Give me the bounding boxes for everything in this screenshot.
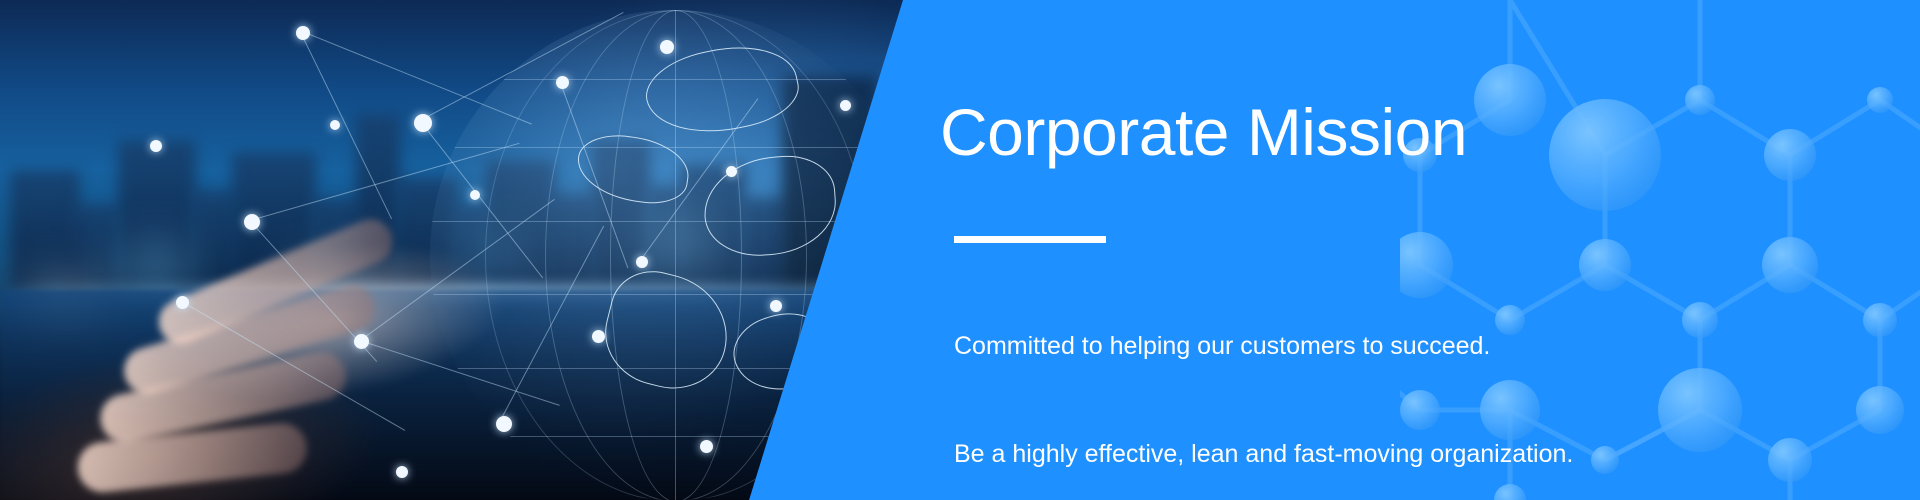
corporate-mission-banner: Corporate Mission Committed to helping o…	[0, 0, 1920, 500]
title-divider	[954, 236, 1106, 243]
mission-statement: Committed to helping our customers to su…	[954, 256, 1596, 500]
mission-content: Corporate Mission Committed to helping o…	[940, 0, 1760, 500]
mission-line-1: Committed to helping our customers to su…	[954, 328, 1596, 364]
hero-photo	[0, 0, 960, 500]
mission-line-2: Be a highly effective, lean and fast-mov…	[954, 436, 1596, 472]
page-title: Corporate Mission	[940, 98, 1467, 167]
